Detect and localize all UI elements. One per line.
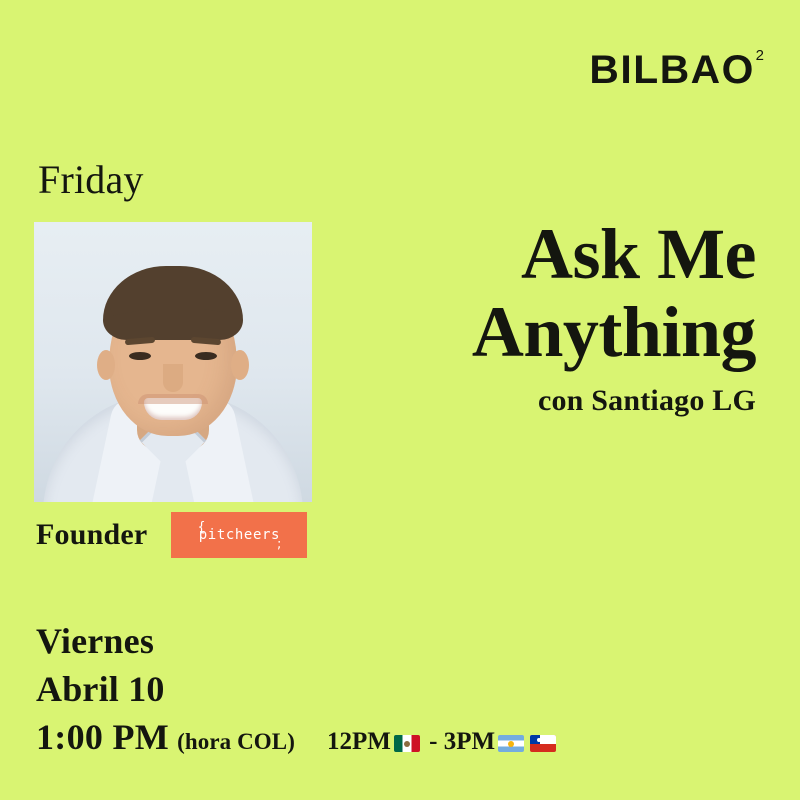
portrait-ear-right	[231, 350, 249, 380]
schedule-date: Abril 10	[36, 666, 559, 714]
mexico-flag-icon	[394, 735, 420, 752]
schedule-time: 1:00 PM	[36, 716, 169, 758]
poster-canvas: Friday AMA Sessions BILBAO 2 Ask Me Anyt…	[0, 0, 800, 800]
schedule-alt-start: 12PM	[327, 728, 391, 756]
portrait-ear-left	[97, 350, 115, 380]
bilbao-logo-superscript: 2	[756, 48, 764, 63]
argentina-flag-icon	[498, 735, 524, 752]
main-title-line-1: Ask Me	[472, 216, 756, 294]
chile-flag-icon	[530, 735, 556, 752]
end-time-flags	[495, 733, 559, 750]
portrait-nose	[163, 364, 183, 392]
founder-label: Founder	[36, 518, 147, 552]
speaker-portrait	[34, 222, 312, 502]
main-title-line-2: Anything	[472, 294, 756, 372]
header-line-1: Friday	[38, 154, 279, 207]
portrait-eye-left	[129, 352, 151, 360]
schedule-timezone: (hora COL)	[177, 729, 295, 755]
schedule-day: Viernes	[36, 618, 559, 666]
portrait-mouth	[144, 398, 202, 420]
schedule-block: Viernes Abril 10 1:00 PM (hora COL) 12PM…	[36, 618, 559, 758]
main-title-subtitle: con Santiago LG	[472, 384, 756, 418]
founder-row: Founder { pitcheers ;	[36, 512, 307, 558]
brace-open-icon: {	[197, 521, 205, 534]
schedule-alt-separator: -	[423, 728, 444, 756]
bilbao-logo-text: BILBAO	[590, 50, 756, 90]
bilbao-logo: BILBAO 2	[591, 50, 764, 90]
portrait-eye-right	[195, 352, 217, 360]
schedule-time-row: 1:00 PM (hora COL) 12PM - 3PM	[36, 716, 559, 758]
main-title-block: Ask Me Anything con Santiago LG	[472, 216, 756, 418]
brace-close-icon: ;	[277, 538, 281, 551]
schedule-alt-times: 12PM - 3PM	[327, 728, 559, 756]
pitcheers-wordmark: pitcheers	[199, 527, 280, 543]
schedule-alt-end: 3PM	[444, 728, 495, 756]
pitcheers-logo-badge: { pitcheers ;	[171, 512, 307, 558]
